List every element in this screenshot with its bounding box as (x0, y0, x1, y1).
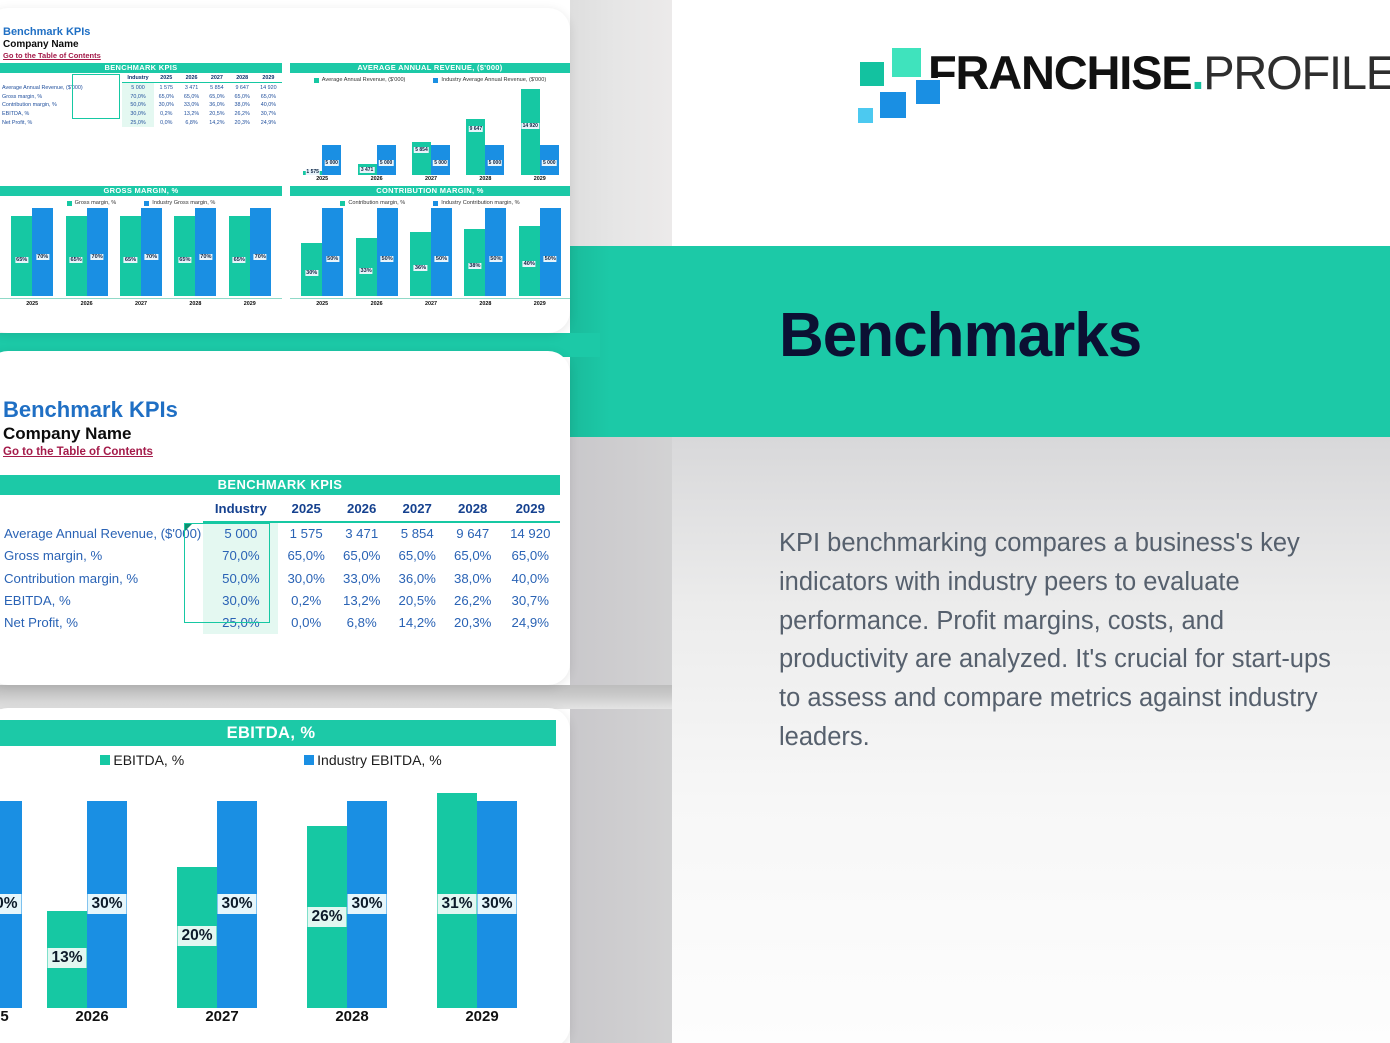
legend-label-industry: Industry EBITDA, % (317, 752, 441, 768)
cell-2025: 0,0% (278, 611, 334, 633)
bar-industry: 50% (540, 208, 561, 296)
page-title: Benchmarks (779, 305, 1141, 367)
mini-revenue-title: AVERAGE ANNUAL REVENUE, ($'000) (290, 63, 570, 73)
table-row: Net Profit, % 25,0% 0,0%6,8% 14,2%20,3% … (0, 119, 282, 128)
bar-group: 65% 70% (174, 208, 216, 296)
cell-industry: 70,0% (203, 545, 278, 567)
bar-industry: 5 000 (485, 145, 504, 175)
cell-industry: 5 000 (203, 522, 278, 545)
row-label: Net Profit, % (0, 611, 203, 633)
cell-2025: 1 575 (278, 522, 334, 545)
row-label: Gross margin, % (0, 545, 203, 567)
bar-industry: 70% (195, 208, 216, 296)
ebitda-chart-card: EBITDA, % EBITDA, % Industry EBITDA, % 0… (0, 708, 570, 1043)
mini-kpi-panel: BENCHMARK KPIS (0, 63, 282, 73)
bar-industry: 70% (250, 208, 271, 296)
bar-group-2029: 31% 30% (432, 780, 532, 1008)
sheet-subtitle: Company Name (3, 424, 131, 444)
dashboard-card-overview: Benchmark KPIs Company Name Go to the Ta… (0, 8, 570, 333)
brand-logo: FRANCHISE.PROFILES (852, 44, 1390, 100)
bar-group: 38% 50% (464, 208, 506, 296)
bar-group-2026: 13% 30% (42, 780, 142, 1008)
cell-2029: 24,9% (500, 611, 560, 633)
row-label: Average Annual Revenue, ($'000) (0, 522, 203, 545)
cell-2025: 65,0% (278, 545, 334, 567)
mini-contribution-margin-axis: 20252026 20272028 2029 (295, 301, 567, 307)
cell-2026: 3 471 (334, 522, 390, 545)
cell-2029: 30,7% (500, 589, 560, 611)
legend-label: Gross margin, % (75, 200, 117, 206)
ebitda-axis-labels: 2025 2026 2027 2028 2029 (0, 1008, 556, 1025)
mini-contribution-margin-panel: CONTRIBUTION MARGIN, % Contribution marg… (290, 186, 570, 206)
mini-revenue-axis: 20252026 20272028 2029 (295, 176, 567, 182)
mini-contribution-margin-title: CONTRIBUTION MARGIN, % (290, 186, 570, 196)
bar-company: 20% (177, 867, 217, 1008)
bar-company: 65% (120, 216, 141, 296)
background-gray-band-middle (0, 685, 672, 709)
cell-2025: 0,2% (278, 589, 334, 611)
bar-group: 65% 70% (66, 208, 108, 296)
table-row: Average Annual Revenue, ($'000) 5 000 1 … (0, 83, 282, 92)
mini-revenue-bars: 1 575 5 000 3 471 5 000 5 854 5 000 (295, 80, 567, 175)
bar-group: 14 920 5 000 (521, 89, 559, 175)
bar-company: 30% (301, 243, 322, 296)
axis-label-2026: 2026 (42, 1008, 142, 1025)
bar-group: 3 471 5 000 (358, 145, 396, 175)
cell-2028: 26,2% (445, 589, 501, 611)
cell-2028: 38,0% (445, 567, 501, 589)
logo-word-profiles: PROFILES (1203, 46, 1390, 99)
bar-group-2028: 26% 30% (302, 780, 402, 1008)
bar-company: 65% (229, 216, 250, 296)
mini-gross-margin-bars: 65% 70% 65% 70% 65% 70% (5, 208, 277, 296)
bar-company: 33% (356, 238, 377, 296)
table-row: Gross margin, % 70,0% 65,0% 65,0% 65,0% … (0, 545, 560, 567)
mini-sheet-subtitle: Company Name (3, 39, 79, 50)
mini-gross-margin-panel: GROSS MARGIN, % Gross margin, % Industry… (0, 186, 282, 206)
cell-2027: 5 854 (389, 522, 445, 545)
kpi-table: Industry 2025 2026 2027 2028 2029 Averag… (0, 497, 560, 634)
axis-label-2029: 2029 (432, 1008, 532, 1025)
col-2025: 2025 (278, 497, 334, 522)
cell-2029: 65,0% (500, 545, 560, 567)
bar-industry: 50% (322, 208, 343, 296)
cell-2026: 65,0% (334, 545, 390, 567)
cell-2027: 14,2% (389, 611, 445, 633)
table-row: EBITDA, % 30,0% 0,2% 13,2% 20,5% 26,2% 3… (0, 589, 560, 611)
mini-contribution-margin-bars: 30% 50% 33% 50% 36% 50% (295, 208, 567, 296)
bar-industry: 5 000 (431, 145, 450, 175)
mini-kpi-table: Industry 2025 2026 2027 2028 2029 Averag… (0, 74, 282, 127)
bar-industry: 5 000 (377, 145, 396, 175)
bar-company: 5 854 (412, 142, 431, 175)
logo-squares-icon (852, 44, 914, 100)
row-label: EBITDA, % (0, 589, 203, 611)
cell-industry: 25,0% (203, 611, 278, 633)
cell-2027: 20,5% (389, 589, 445, 611)
axis-label-2028: 2028 (302, 1008, 402, 1025)
mini-gross-margin-axis: 20252026 20272028 2029 (5, 301, 277, 307)
mini-contribution-margin-legend: Contribution margin, % Industry Contribu… (290, 196, 570, 206)
table-row: Average Annual Revenue, ($'000) 5 000 1 … (0, 522, 560, 545)
cell-2029: 14 920 (500, 522, 560, 545)
bar-industry: 70% (32, 208, 53, 296)
slide-canvas: Benchmarks FRANCHISE.PROFILES KPI benchm… (0, 0, 1390, 1043)
cell-2028: 65,0% (445, 545, 501, 567)
bar-industry: 50% (431, 208, 452, 296)
bar-group-2025: 0% 30% (0, 780, 42, 1008)
bar-company: 36% (410, 232, 431, 296)
legend-label-company: EBITDA, % (113, 752, 184, 768)
cell-industry: 30,0% (203, 589, 278, 611)
bar-industry: 30% (87, 801, 127, 1008)
ebitda-plot-area: 0% 30% 13% 30% (0, 780, 556, 1008)
col-industry: Industry (203, 497, 278, 522)
bar-industry: 5 000 (322, 145, 341, 175)
axis-label-2027: 2027 (172, 1008, 272, 1025)
logo-word-franchise: FRANCHISE (928, 46, 1191, 99)
bar-group: 30% 50% (301, 208, 343, 296)
legend-label: Industry Gross margin, % (152, 200, 215, 206)
bar-company: 1 575 (303, 171, 322, 175)
hero-description: KPI benchmarking compares a business's k… (779, 524, 1354, 757)
row-label: Contribution margin, % (0, 567, 203, 589)
bar-company: 65% (11, 216, 32, 296)
bar-group: 65% 70% (11, 208, 53, 296)
ebitda-chart-legend: EBITDA, % Industry EBITDA, % (0, 752, 556, 768)
bar-company: 14 920 (521, 89, 540, 175)
bar-company: 65% (66, 216, 87, 296)
bar-industry: 5 000 (540, 145, 559, 175)
col-2028: 2028 (445, 497, 501, 522)
bar-group: 5 854 5 000 (412, 142, 450, 175)
sheet-title: Benchmark KPIs (3, 397, 178, 423)
table-row: Contribution margin, % 50,0% 30,0% 33,0%… (0, 567, 560, 589)
bar-group: 1 575 5 000 (303, 145, 341, 175)
bar-group: 33% 50% (356, 208, 398, 296)
legend-label: Contribution margin, % (348, 200, 405, 206)
bar-company: 13% (47, 911, 87, 1008)
bar-industry: 70% (87, 208, 108, 296)
bar-industry: 30% (477, 801, 517, 1008)
cell-2026: 6,8% (334, 611, 390, 633)
cell-corner-marker-icon (185, 524, 192, 531)
mini-toc-link[interactable]: Go to the Table of Contents (3, 51, 101, 60)
bar-company: 65% (174, 216, 195, 296)
table-row: EBITDA, % 30,0% 0,2%13,2% 20,5%26,2% 30,… (0, 110, 282, 119)
table-row: Contribution margin, % 50,0% 30,0%33,0% … (0, 101, 282, 110)
cell-industry: 50,0% (203, 567, 278, 589)
bar-industry: 70% (141, 208, 162, 296)
legend-label: Industry Contribution margin, % (441, 200, 519, 206)
kpi-table-card: Benchmark KPIs Company Name Go to the Ta… (0, 351, 570, 685)
cell-2026: 33,0% (334, 567, 390, 589)
table-header-row: Industry 2025 2026 2027 2028 2029 (0, 497, 560, 522)
cell-2028: 9 647 (445, 522, 501, 545)
bar-company: 9 647 (466, 119, 485, 175)
toc-link[interactable]: Go to the Table of Contents (3, 446, 153, 458)
cell-2027: 65,0% (389, 545, 445, 567)
bar-industry: 50% (485, 208, 506, 296)
cell-2025: 30,0% (278, 567, 334, 589)
cell-2028: 20,3% (445, 611, 501, 633)
bar-group: 36% 50% (410, 208, 452, 296)
logo-dot: . (1191, 46, 1203, 99)
bar-industry: 30% (217, 801, 257, 1008)
cell-2029: 40,0% (500, 567, 560, 589)
cell-2027: 36,0% (389, 567, 445, 589)
kpi-table-header: BENCHMARK KPIS (0, 475, 560, 495)
bar-industry: 50% (377, 208, 398, 296)
bar-industry: 30% (347, 801, 387, 1008)
bar-industry: 30% (0, 801, 22, 1008)
axis-label-2025: 2025 (0, 1008, 42, 1025)
table-row: Net Profit, % 25,0% 0,0% 6,8% 14,2% 20,3… (0, 611, 560, 633)
mini-gross-margin-legend: Gross margin, % Industry Gross margin, % (0, 196, 282, 206)
col-2026: 2026 (334, 497, 390, 522)
col-2027: 2027 (389, 497, 445, 522)
logo-wordmark: FRANCHISE.PROFILES (928, 49, 1390, 96)
bar-company: 40% (519, 226, 540, 296)
bar-group: 40% 50% (519, 208, 561, 296)
mini-kpi-panel-title: BENCHMARK KPIS (0, 63, 282, 73)
col-2029: 2029 (500, 497, 560, 522)
bar-company: 38% (464, 229, 485, 296)
mini-sheet-title: Benchmark KPIs (3, 26, 90, 38)
ebitda-chart-title: EBITDA, % (0, 720, 556, 746)
cell-2026: 13,2% (334, 589, 390, 611)
bar-group: 65% 70% (229, 208, 271, 296)
bar-company: 3 471 (358, 164, 377, 175)
bar-company: 31% (437, 793, 477, 1008)
bar-group: 9 647 5 000 (466, 119, 504, 175)
mini-gross-margin-title: GROSS MARGIN, % (0, 186, 282, 196)
bar-company: 26% (307, 826, 347, 1008)
table-row: Gross margin, % 70,0% 65,0%65,0% 65,0%65… (0, 92, 282, 101)
bar-group-2027: 20% 30% (172, 780, 272, 1008)
bar-group: 65% 70% (120, 208, 162, 296)
